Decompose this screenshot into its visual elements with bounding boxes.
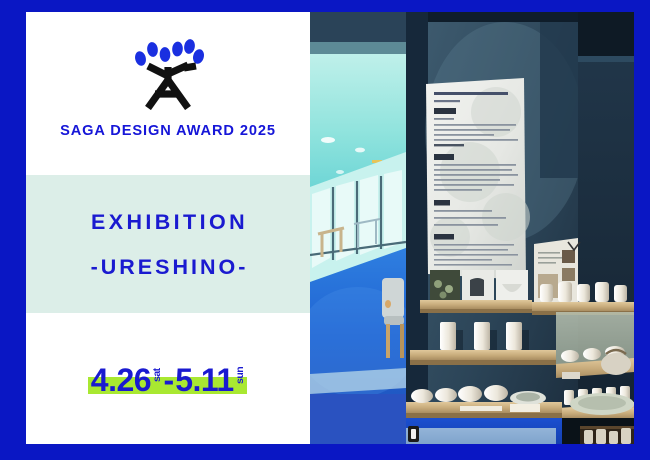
corridor-strip [310,12,418,444]
gallery-photo [310,12,634,444]
start-date: 4.26 [91,362,151,398]
logo-block: SAGA DESIGN AWARD 2025 [26,36,310,139]
poster-inner-frame: SAGA DESIGN AWARD 2025 EXHIBITION -URESH… [26,12,634,444]
date-separator: - [164,362,175,398]
end-date: 5.11 [175,362,234,398]
logo-wordmark: SAGA DESIGN AWARD 2025 [26,123,310,139]
shelf-right-upper [532,282,634,315]
start-day-of-week: sat [152,364,163,386]
saga-design-award-tree-mark-icon [126,36,210,110]
exhibition-subtitle: -URESHINO- [26,255,310,280]
dates-inline: 4.26sat-5.11sun [91,364,245,396]
poster-root: SAGA DESIGN AWARD 2025 EXHIBITION -URESH… [0,0,650,460]
end-day-of-week: sun [235,364,246,386]
light-switch [408,426,419,442]
left-text-panel: SAGA DESIGN AWARD 2025 EXHIBITION -URESH… [26,12,310,444]
dates-block: 4.26sat-5.11sun [26,364,310,396]
info-poster [426,78,530,300]
gallery-photo-illustration [310,12,634,444]
exhibition-block: EXHIBITION -URESHINO- [26,210,310,280]
storage-crate [580,426,634,444]
shelf-top [420,300,532,313]
exhibition-title: EXHIBITION [26,210,310,235]
